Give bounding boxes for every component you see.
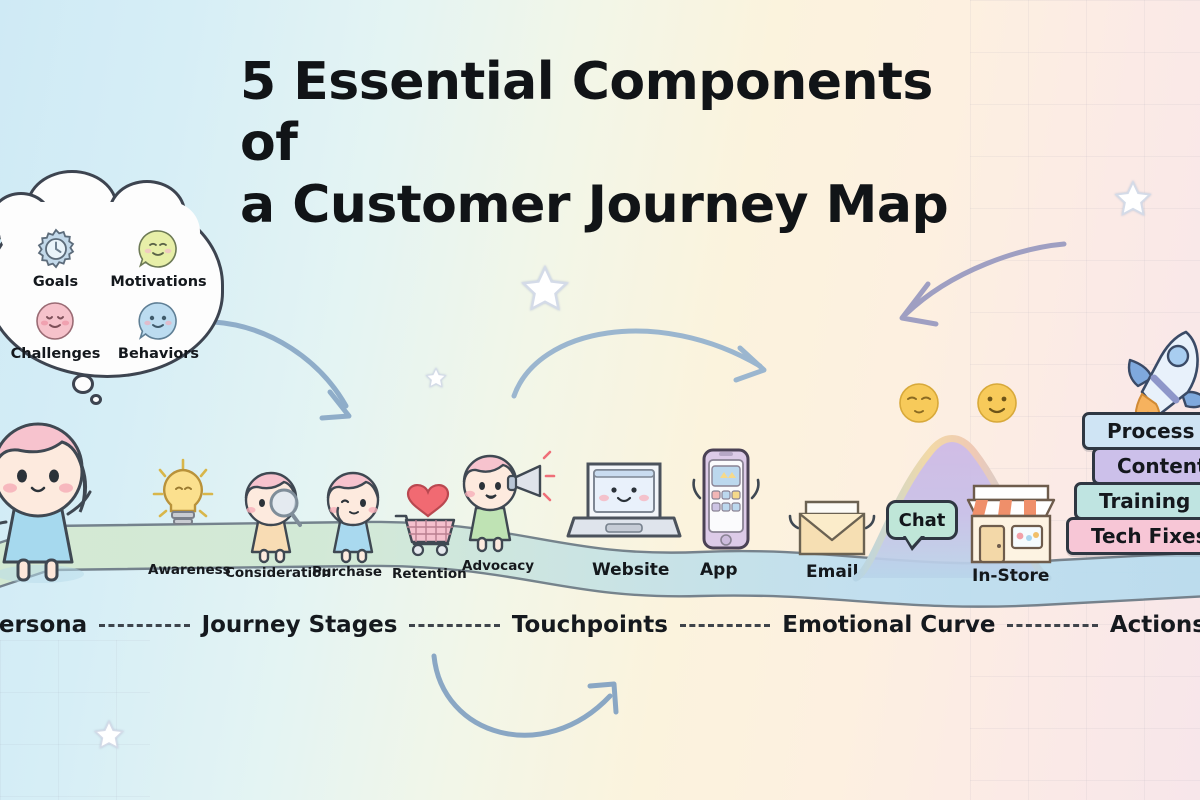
title-line-1: 5 Essential Components of: [240, 52, 933, 173]
journey-stage-label: Purchase: [312, 564, 382, 580]
star-decoration: [424, 366, 448, 390]
chat-bubble-icon[interactable]: Chat: [886, 500, 958, 540]
legend-divider: [1007, 624, 1097, 627]
legend-divider: [680, 624, 770, 627]
page-title: 5 Essential Components of a Customer Jou…: [240, 52, 980, 236]
journey-stage-label: Advocacy: [462, 558, 534, 574]
bubble-tail-large: [72, 374, 94, 394]
action-card-label: Training: [1099, 489, 1190, 513]
smiling-face-icon: [32, 298, 78, 344]
action-card[interactable]: Process Ch: [1082, 412, 1200, 450]
girl-megaphone-icon: [452, 448, 552, 556]
touchpoint-label: Chat: [899, 510, 946, 531]
component-label-emotional-curve: Emotional Curve: [782, 612, 995, 638]
legend-divider: [409, 624, 499, 627]
persona-attribute-challenges: Challenges: [11, 298, 101, 362]
persona-thought-bubble: Goals Motivations: [0, 196, 224, 378]
journey-stage-label: Retention: [392, 566, 467, 582]
bubble-tail-small: [90, 394, 102, 405]
action-card-label: Tech Fixes: [1091, 524, 1200, 548]
smartphone-icon: [690, 446, 762, 554]
thinking-face-icon: [135, 226, 181, 272]
chat-face-icon: [135, 298, 181, 344]
lightbulb-icon: [152, 458, 214, 536]
component-label-journey-stages: Journey Stages: [202, 612, 398, 638]
touchpoint-label: In-Store: [972, 566, 1049, 586]
arrow-stages-to-touchpoints: [508, 300, 788, 410]
title-line-2: a Customer Journey Map: [240, 175, 980, 236]
arrow-bottom-loop: [424, 648, 654, 768]
component-label-actions: Actions: [1110, 612, 1200, 638]
gear-clock-icon: [33, 226, 79, 272]
persona-attribute-behaviors: Behaviors: [118, 298, 199, 362]
persona-attribute-label: Motivations: [110, 274, 206, 290]
persona-attribute-motivations: Motivations: [110, 226, 206, 290]
background-grid-left: [0, 640, 150, 800]
legend-divider: [99, 624, 189, 627]
arrow-touchpoints-to-emotional-curve: [880, 240, 1070, 350]
persona-girl-character: [0, 418, 102, 588]
action-card[interactable]: Tech Fixes: [1066, 517, 1200, 555]
component-label-persona: Persona: [0, 612, 87, 638]
relieved-face-emoji: [898, 382, 940, 424]
girl-magnifier-icon: [232, 470, 310, 562]
touchpoint-label: Website: [592, 560, 669, 580]
component-legend-row: Persona Journey Stages Touchpoints Emoti…: [0, 608, 1200, 642]
action-card-label: Process Ch: [1107, 419, 1200, 443]
touchpoint-label: Email: [806, 562, 858, 582]
journey-stage-label: Awareness: [148, 562, 231, 578]
action-card[interactable]: Training: [1074, 482, 1200, 520]
action-card-label: Content: [1117, 454, 1200, 478]
laptop-icon: [566, 456, 678, 552]
touchpoint-label: App: [700, 560, 738, 580]
storefront-icon: [964, 468, 1058, 564]
girl-thinking-icon: [318, 470, 388, 562]
persona-attribute-label: Behaviors: [118, 346, 199, 362]
action-card[interactable]: Content: [1092, 447, 1200, 485]
star-decoration: [1112, 178, 1154, 220]
actions-card-stack: Process Ch Content Training Tech Fixes: [1082, 412, 1200, 552]
persona-attribute-label: Goals: [33, 274, 79, 290]
slightly-smiling-face-emoji: [976, 382, 1018, 424]
infographic-canvas: 5 Essential Components of a Customer Jou…: [0, 0, 1200, 800]
component-label-touchpoints: Touchpoints: [512, 612, 668, 638]
persona-attribute-label: Challenges: [11, 346, 101, 362]
star-decoration: [92, 718, 126, 752]
persona-attribute-goals: Goals: [33, 226, 79, 290]
arrow-persona-to-stages: [210, 300, 380, 440]
persona-attribute-grid: Goals Motivations: [0, 196, 224, 378]
